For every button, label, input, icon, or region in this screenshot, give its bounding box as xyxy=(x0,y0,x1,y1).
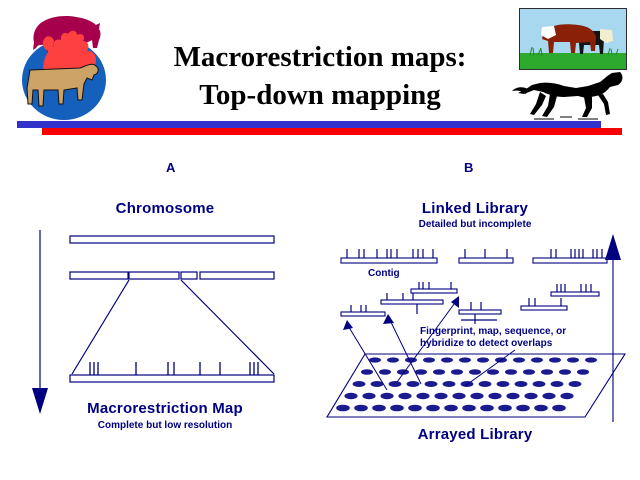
horse-hind-legs xyxy=(530,92,557,117)
clone-bar xyxy=(551,292,599,296)
contig-bar xyxy=(341,258,437,263)
page-title: Macrorestriction maps: Top-down mapping xyxy=(110,38,530,114)
panel-a-bottom-sublabel: Complete but low resolution xyxy=(40,420,290,431)
photo-grass xyxy=(520,53,626,69)
clone-bar xyxy=(381,300,443,304)
panel-a-bottom-label: Macrorestriction Map xyxy=(40,400,290,417)
panel-letter-b: B xyxy=(464,160,473,175)
accent-bar-red xyxy=(42,128,622,135)
title-line-1: Macrorestriction maps: xyxy=(110,38,530,76)
macrorestriction-map-bar xyxy=(70,375,274,382)
livestock-genome-logo xyxy=(8,4,120,124)
overlap-process-label-line1: Fingerprint, map, sequence, or xyxy=(420,326,635,337)
chromosome-bar xyxy=(70,236,274,243)
panel-b-top-label: Linked Library xyxy=(350,200,600,217)
panel-a-top-label: Chromosome xyxy=(40,200,290,217)
title-line-2: Top-down mapping xyxy=(110,76,530,114)
panel-b-diagram xyxy=(325,232,635,442)
clone-bar xyxy=(411,289,457,293)
clone-bar xyxy=(521,306,567,310)
clone-bar xyxy=(459,310,501,314)
clone-group-middle xyxy=(459,302,501,324)
restriction-site-ticks xyxy=(90,362,258,375)
contig-bar xyxy=(459,258,513,263)
horse-dust xyxy=(534,117,598,119)
contig-label: Contig xyxy=(368,268,448,279)
fragment-segment xyxy=(200,272,274,279)
cattle-pasture-photo xyxy=(519,8,627,70)
panel-letter-a: A xyxy=(166,160,175,175)
panel-b-arrow-head xyxy=(605,234,621,260)
clone-bar xyxy=(341,312,385,316)
fragment-segment xyxy=(70,272,128,279)
fragment-segment xyxy=(181,272,197,279)
projection-line xyxy=(72,280,129,374)
overlap-process-label-line2: hybridize to detect overlaps xyxy=(420,338,635,349)
accent-bar-blue xyxy=(17,121,601,128)
contig-group xyxy=(341,249,607,263)
slide-canvas: Macrorestriction maps: Top-down mapping xyxy=(0,0,640,480)
panel-b-top-sublabel: Detailed but incomplete xyxy=(350,219,600,230)
panel-b-bottom-label: Arrayed Library xyxy=(350,426,600,443)
clone-group-right xyxy=(521,284,599,310)
galloping-horse-silhouette xyxy=(512,70,630,122)
panel-a-diagram xyxy=(28,222,308,422)
fragment-segment xyxy=(129,272,179,279)
contig-bar xyxy=(533,258,607,263)
horse-fore-legs xyxy=(582,94,610,117)
clone-group-left xyxy=(341,282,457,316)
projection-line xyxy=(181,280,274,374)
